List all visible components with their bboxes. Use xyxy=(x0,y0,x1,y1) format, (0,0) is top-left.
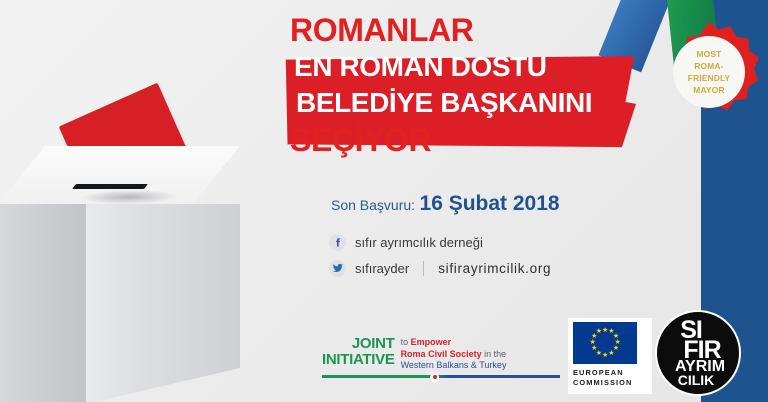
headline-block: ROMANLAR EN ROMAN DOSTU BELEDİYE BAŞKANI… xyxy=(288,14,688,156)
joint-initiative-title-line-2: INITIATIVE xyxy=(322,352,395,368)
badge-line-3: FRIENDLY xyxy=(688,73,731,83)
eu-star-icon: ★ xyxy=(591,346,597,352)
deadline-value: 16 Şubat 2018 xyxy=(420,192,560,215)
joint-initiative-title-line-1: JOINT xyxy=(322,336,395,352)
eu-label-line-2: COMMISSION xyxy=(573,378,647,388)
badge-line-1: MOST xyxy=(697,49,722,59)
joint-initiative-tagline: to Empower Roma Civil Society in the Wes… xyxy=(401,336,507,372)
eu-star-icon: ★ xyxy=(596,329,602,335)
social-block: sıfır ayrımcılık derneği sıfırayder sifi… xyxy=(329,231,551,283)
joint-initiative-dot-icon xyxy=(430,373,439,382)
social-divider xyxy=(423,261,424,276)
eu-star-icon: ★ xyxy=(602,328,608,334)
eu-star-icon: ★ xyxy=(590,340,596,346)
headline-line-1: ROMANLAR xyxy=(290,14,688,46)
twitter-row[interactable]: sıfırayder sifirayrimcilik.org xyxy=(329,257,551,279)
sifir-logo-line-4: CILIK xyxy=(655,372,737,388)
badge-line-4: MAYOR xyxy=(693,85,724,95)
ballot-box-front-face xyxy=(0,204,86,402)
ballot-slot xyxy=(72,184,148,189)
twitter-icon[interactable] xyxy=(329,260,346,277)
headline-line-2: EN ROMAN DOSTU xyxy=(294,53,688,81)
facebook-handle: sıfır ayrımcılık derneği xyxy=(355,235,483,250)
badge-text: MOST ROMA- FRIENDLY MAYOR xyxy=(688,48,731,97)
facebook-row[interactable]: sıfır ayrımcılık derneği xyxy=(329,231,551,253)
tagline-line-2: Roma Civil Society in the xyxy=(401,349,507,361)
ballot-slot-shadow xyxy=(77,190,182,204)
eu-label: EUROPEAN COMMISSION xyxy=(573,368,647,389)
headline-line-3: BELEDİYE BAŞKANINI xyxy=(296,89,688,117)
website-url[interactable]: sifirayrimcilik.org xyxy=(438,261,551,276)
tagline-region: Western Balkans & Turkey xyxy=(401,360,507,370)
facebook-icon[interactable] xyxy=(329,234,346,251)
tagline-to: to xyxy=(401,337,411,347)
sifir-ayrimcilik-logo: SI FIR AYRIM CILIK xyxy=(655,310,741,396)
eu-star-icon: ★ xyxy=(602,353,608,359)
poster-canvas: MOST ROMA- FRIENDLY MAYOR ROMANLAR EN RO… xyxy=(0,0,768,402)
eu-flag-icon: ★★★★★★★★★★★★ xyxy=(573,322,637,364)
joint-initiative-underline xyxy=(322,375,560,378)
deadline-label: Son Başvuru: xyxy=(331,197,415,213)
joint-initiative-logo: JOINT INITIATIVE to Empower Roma Civil S… xyxy=(322,336,564,378)
tagline-empower: Empower xyxy=(411,337,452,347)
headline-line-4: SEÇİYOR xyxy=(290,124,688,156)
tagline-roma-civil-society: Roma Civil Society xyxy=(401,349,482,359)
joint-initiative-wordmark: JOINT INITIATIVE xyxy=(322,336,395,368)
ballot-box-side-face xyxy=(86,204,240,402)
ballot-box-illustration xyxy=(0,120,290,402)
european-commission-logo: ★★★★★★★★★★★★ EUROPEAN COMMISSION xyxy=(568,318,652,394)
badge-line-2: ROMA- xyxy=(694,61,723,71)
tagline-line-3: Western Balkans & Turkey xyxy=(401,360,507,372)
tagline-in-the: in the xyxy=(482,349,507,359)
joint-initiative-row: JOINT INITIATIVE to Empower Roma Civil S… xyxy=(322,336,564,372)
twitter-handle: sıfırayder xyxy=(355,261,409,276)
deadline-block: Son Başvuru: 16 Şubat 2018 xyxy=(331,192,560,216)
tagline-line-1: to Empower xyxy=(401,337,507,349)
eu-label-line-1: EUROPEAN xyxy=(573,368,647,378)
eu-star-icon: ★ xyxy=(608,351,614,357)
